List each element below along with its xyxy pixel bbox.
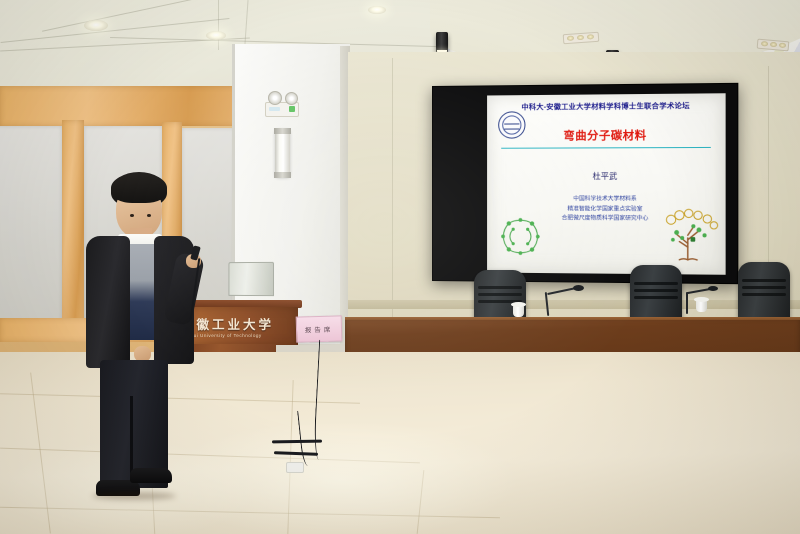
microphone-head (708, 286, 718, 291)
presenter-shoe-right (130, 468, 172, 483)
wall-sconce (275, 129, 290, 177)
microphone-stem (686, 292, 688, 314)
wall-wood-trim (0, 86, 250, 126)
presenter (78, 170, 200, 534)
wall-seam (392, 58, 393, 326)
power-strip (286, 462, 304, 473)
presentation-slide: 中科大-安徽工业大学材料学科博士生联合学术论坛 弯曲分子碳材料 杜平武 中国科学… (487, 93, 726, 275)
slide-title-text: 弯曲分子碳材料 (495, 126, 717, 143)
ceiling-downlight (84, 20, 108, 31)
slide-speaker-name: 杜平武 (495, 171, 717, 182)
microphone-head (573, 285, 584, 291)
wall-acoustic-panel (0, 126, 62, 324)
water-cup-lid (694, 297, 709, 302)
chair (630, 265, 682, 321)
wall-sconce-cap (274, 128, 291, 134)
wall-sconce-cap (274, 172, 291, 178)
emergency-light-indicator (289, 106, 295, 112)
presenter-shadow (92, 492, 176, 500)
presenter-eye (147, 214, 151, 217)
presenter-jacket-left (86, 236, 130, 368)
column-edge (232, 44, 235, 344)
back-wall-baseboard (348, 300, 800, 309)
projection-screen-frame: 中科大-安徽工业大学材料学科博士生联合学术论坛 弯曲分子碳材料 杜平武 中国科学… (432, 83, 738, 284)
presenter-eye (130, 214, 134, 217)
water-cup-lid (511, 302, 526, 307)
laptop (228, 262, 274, 296)
ceiling-seam (218, 0, 219, 50)
ceiling-downlight (368, 6, 386, 14)
affiliation-line: 中国科学技术大学材料系 (495, 195, 717, 205)
molecule-graphic-icon (498, 216, 543, 257)
pendant-light (436, 32, 448, 53)
name-card-sign: 报告席 (296, 315, 343, 342)
projection-screen-surface: 中科大-安徽工业大学材料学科博士生联合学术论坛 弯曲分子碳材料 杜平武 中国科学… (487, 93, 726, 275)
slide-divider (501, 147, 711, 149)
emergency-lamp-right (285, 92, 298, 105)
ustc-logo-icon (498, 111, 525, 138)
emergency-lamp-left (268, 91, 282, 105)
emergency-light-label (269, 107, 280, 111)
presenter-hair-top (111, 173, 167, 203)
tree-molecule-graphic-icon (656, 207, 721, 263)
ceiling-downlight (206, 31, 226, 40)
name-card-text: 报告席 (297, 323, 341, 334)
white-column (232, 44, 350, 344)
lecture-hall-scene: 中科大-安徽工业大学材料学科博士生联合学术论坛 弯曲分子碳材料 杜平武 中国科学… (0, 0, 800, 534)
chair (738, 262, 790, 320)
slide-header-text: 中科大-安徽工业大学材料学科博士生联合学术论坛 (495, 101, 717, 113)
